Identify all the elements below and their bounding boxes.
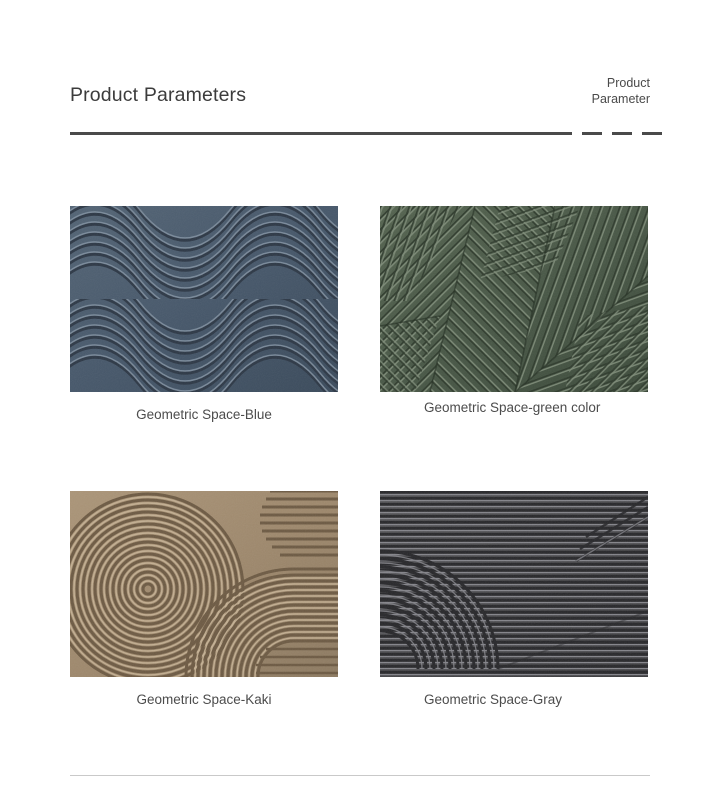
- header-divider-dash-1: [582, 132, 602, 135]
- product-image-kaki[interactable]: [70, 491, 338, 677]
- product-image-green[interactable]: [380, 206, 648, 392]
- product-card-gray[interactable]: Geometric Space-Gray: [380, 491, 648, 708]
- header-divider-dash-3: [642, 132, 662, 135]
- product-label-gray: Geometric Space-Gray: [380, 691, 648, 708]
- page-title: Product Parameters: [70, 84, 246, 107]
- header-divider-solid: [70, 132, 572, 135]
- product-image-gray[interactable]: [380, 491, 648, 677]
- product-card-blue[interactable]: Geometric Space-Blue: [70, 206, 338, 423]
- header-subtitle-line2: Parameter: [500, 91, 650, 107]
- header-subtitle: Product Parameter: [500, 75, 650, 107]
- product-label-kaki: Geometric Space-Kaki: [70, 691, 338, 708]
- header-divider: [70, 132, 650, 136]
- footer-divider: [70, 775, 650, 776]
- product-image-blue[interactable]: [70, 206, 338, 392]
- header-subtitle-line1: Product: [500, 75, 650, 91]
- product-label-blue: Geometric Space-Blue: [70, 406, 338, 423]
- product-label-green: Geometric Space-green color: [380, 399, 648, 416]
- header-divider-dash-2: [612, 132, 632, 135]
- page-header: Product Parameters Product Parameter: [70, 72, 650, 134]
- product-card-kaki[interactable]: Geometric Space-Kaki: [70, 491, 338, 708]
- product-card-green[interactable]: Geometric Space-green color: [380, 206, 648, 416]
